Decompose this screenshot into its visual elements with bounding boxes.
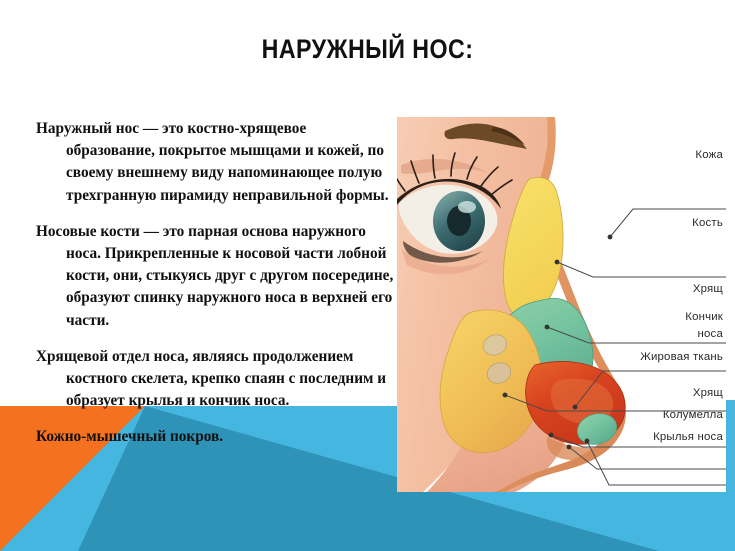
slide-canvas: НАРУЖНЫЙ НОС: Наружный нос — это костно-… — [0, 0, 735, 551]
dot-cartilage-1 — [545, 325, 550, 330]
dot-nose-tip — [573, 405, 578, 410]
label-alae: Крылья носа — [653, 431, 723, 443]
dot-fat — [503, 393, 508, 398]
dot-columella — [567, 445, 572, 450]
dot-bone — [555, 260, 560, 265]
label-nose-tip-line1: Кончик — [685, 311, 723, 323]
label-nose-tip-line2: носа — [698, 328, 723, 340]
page-title: НАРУЖНЫЙ НОС: — [51, 34, 683, 65]
label-cartilage-1: Хрящ — [693, 283, 723, 295]
paragraph-2: Носовые кости — это парная основа наружн… — [36, 221, 396, 332]
body-text-block: Наружный нос — это костно-хрящевое образ… — [36, 118, 396, 449]
label-cartilage-2: Хрящ — [693, 387, 723, 399]
dot-skin — [608, 235, 613, 240]
label-skin: Кожа — [695, 149, 723, 161]
paragraph-4: Кожно-мышечный покров. — [36, 426, 396, 448]
paragraph-3: Хрящевой отдел носа, являясь продолжение… — [36, 346, 396, 413]
label-fat-tissue: Жировая ткань — [640, 351, 723, 363]
paragraph-1: Наружный нос — это костно-хрящевое образ… — [36, 118, 396, 207]
dot-cartilage-2 — [549, 433, 554, 438]
nose-anatomy-figure: Кожа Кость Хрящ Жировая ткань Кончик нос… — [397, 117, 726, 492]
label-bone: Кость — [692, 217, 723, 229]
dot-alae — [585, 439, 590, 444]
label-columella: Колумелла — [663, 409, 723, 421]
eye-highlight — [458, 201, 476, 213]
